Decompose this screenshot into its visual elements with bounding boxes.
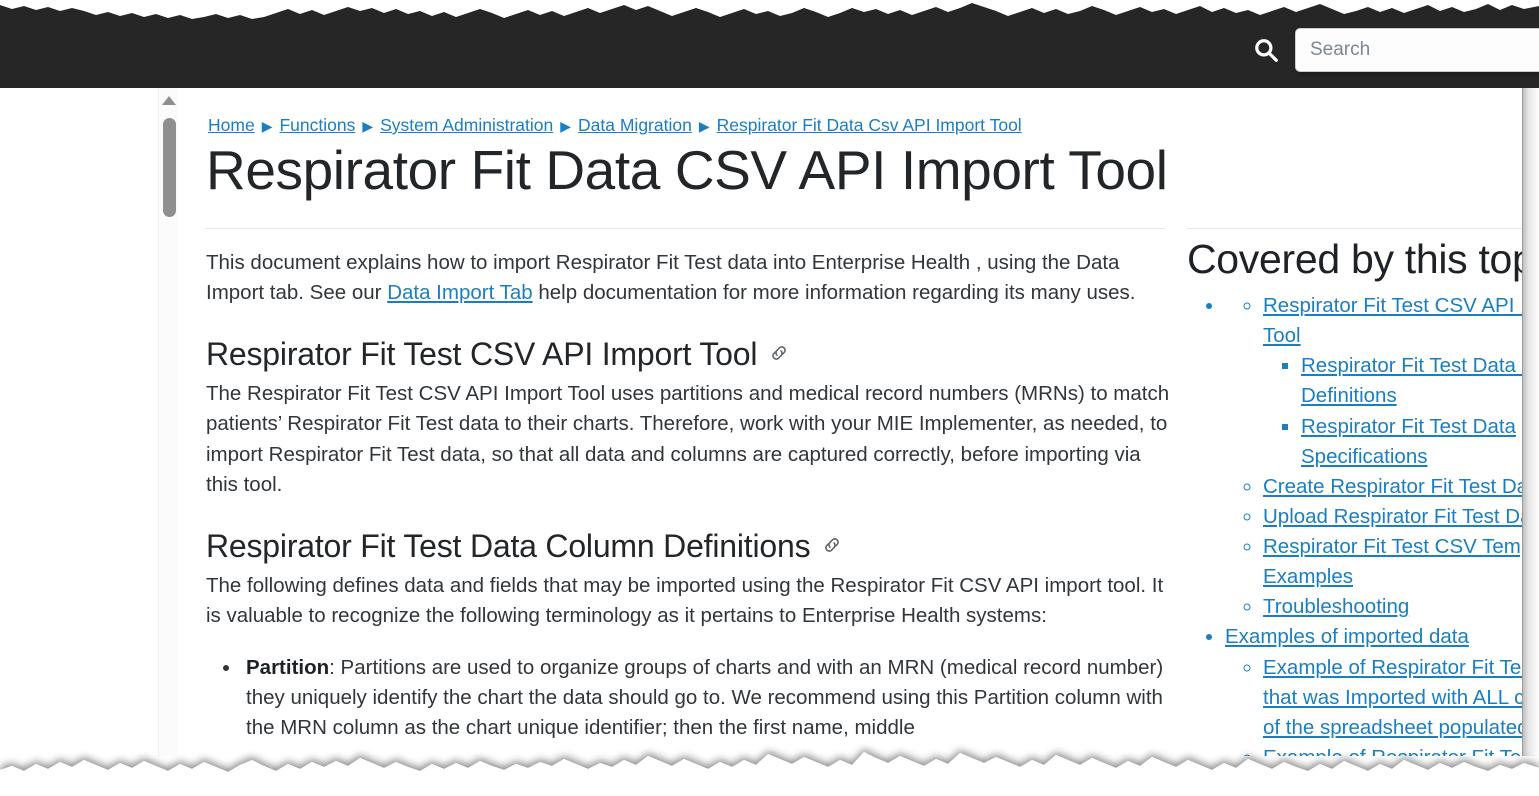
- breadcrumb-item-system-administration[interactable]: System Administration: [380, 115, 553, 135]
- toc-group-1: Respirator Fit Test CSV API Import Tool …: [1225, 291, 1522, 622]
- breadcrumb-item-home[interactable]: Home: [208, 115, 255, 135]
- toc-item-example-second: Example of Respirator Fit Test data: [1263, 743, 1522, 756]
- toc-link-example-second[interactable]: Example of Respirator Fit Test data: [1263, 746, 1522, 756]
- header-torn-edge: [0, 0, 1539, 26]
- toc-list-level2b: Example of Respirator Fit Test data that…: [1225, 653, 1522, 757]
- section-heading-2: Respirator Fit Test Data Column Definiti…: [206, 528, 1171, 565]
- search-icon[interactable]: [1249, 33, 1283, 67]
- triangle-up-icon[interactable]: [162, 96, 176, 105]
- sidebar-item-5[interactable]: agement: [0, 601, 177, 624]
- sidebar-item-3[interactable]: ence: [0, 444, 177, 467]
- toc-list-level3: Respirator Fit Test Data Column Definiti…: [1263, 351, 1522, 472]
- toc-item-example-all-columns: Example of Respirator Fit Test data that…: [1263, 653, 1522, 743]
- toc-item-import-tool: Respirator Fit Test CSV API Import Tool …: [1263, 291, 1522, 472]
- breadcrumb-item-functions[interactable]: Functions: [279, 115, 355, 135]
- toc-panel: Covered by this topic Respirator Fit Tes…: [1187, 236, 1522, 756]
- sidebar-item-4[interactable]: ation: [0, 545, 177, 568]
- breadcrumb-separator: ▶: [362, 118, 373, 135]
- sidebar-item-0[interactable]: tem: [0, 230, 177, 253]
- toc-link-troubleshooting[interactable]: Troubleshooting: [1263, 595, 1409, 618]
- link-anchor-icon[interactable]: [822, 535, 842, 559]
- site-header: [0, 0, 1539, 88]
- page-title: Respirator Fit Data CSV API Import Tool: [206, 138, 1168, 202]
- section-1-body: The Respirator Fit Test CSV API Import T…: [206, 379, 1171, 500]
- toc-item-examples-of-imported-data: Examples of imported data Example of Res…: [1225, 622, 1522, 756]
- link-anchor-icon[interactable]: [769, 343, 789, 367]
- toc-link-data-specifications[interactable]: Respirator Fit Test Data Specifications: [1301, 415, 1516, 468]
- breadcrumb-separator: ▶: [560, 118, 571, 135]
- data-import-tab-link[interactable]: Data Import Tab: [387, 281, 532, 304]
- toc-item-troubleshooting: Troubleshooting: [1263, 592, 1522, 622]
- toc-item-create-data: Create Respirator Fit Test Data: [1263, 472, 1522, 502]
- sidebar-scrollbar[interactable]: [158, 88, 178, 756]
- sidebar-item-list: tem d emenu ence ation agement ment: [0, 88, 177, 735]
- breadcrumb-separator: ▶: [262, 118, 273, 135]
- toc-link-examples-of-imported-data[interactable]: Examples of imported data: [1225, 625, 1469, 648]
- left-sidebar-nav: tem d emenu ence ation agement ment: [0, 88, 178, 756]
- toc-link-csv-template-examples[interactable]: Respirator Fit Test CSV Template Example…: [1263, 535, 1522, 588]
- toc-link-upload-data[interactable]: Upload Respirator Fit Test Data: [1263, 505, 1522, 528]
- definition-term: Partition: [246, 656, 329, 679]
- document-content: Home▶Functions▶System Administration▶Dat…: [179, 88, 1522, 756]
- toc-item-data-specifications: Respirator Fit Test Data Specifications: [1301, 412, 1522, 472]
- breadcrumb-separator: ▶: [699, 118, 710, 135]
- page-edge-line: [1522, 88, 1523, 756]
- breadcrumb: Home▶Functions▶System Administration▶Dat…: [208, 115, 1022, 136]
- toc-item-upload-data: Upload Respirator Fit Test Data: [1263, 502, 1522, 532]
- breadcrumb-item-data-migration[interactable]: Data Migration: [578, 115, 692, 135]
- toc-list-level1: Respirator Fit Test CSV API Import Tool …: [1187, 291, 1522, 756]
- intro-paragraph: This document explains how to import Res…: [206, 248, 1171, 308]
- list-item: Partition: Partitions are used to organi…: [242, 653, 1171, 743]
- toc-link-example-all-columns[interactable]: Example of Respirator Fit Test data that…: [1263, 656, 1522, 739]
- toc-item-csv-template-examples: Respirator Fit Test CSV Template Example…: [1263, 532, 1522, 592]
- toc-link-column-definitions[interactable]: Respirator Fit Test Data Column Definiti…: [1301, 354, 1522, 407]
- toc-divider: [1187, 228, 1522, 229]
- title-divider: [205, 228, 1165, 229]
- sidebar-item-6[interactable]: ment: [0, 712, 177, 735]
- intro-text-after: help documentation for more information …: [533, 281, 1136, 304]
- definition-text: : Partitions are used to organize groups…: [246, 656, 1163, 739]
- main-article-column: This document explains how to import Res…: [206, 248, 1171, 743]
- scrollbar-thumb[interactable]: [163, 118, 176, 217]
- page-edge-shadow: [1522, 88, 1539, 756]
- breadcrumb-item-current[interactable]: Respirator Fit Data Csv API Import Tool: [717, 115, 1022, 135]
- document-page: tem d emenu ence ation agement ment Home…: [0, 0, 1539, 796]
- section-heading-1: Respirator Fit Test CSV API Import Tool: [206, 336, 1171, 373]
- search-area: [1249, 28, 1539, 72]
- search-input[interactable]: [1295, 28, 1539, 72]
- definition-list: Partition: Partitions are used to organi…: [206, 653, 1171, 743]
- toc-item-column-definitions: Respirator Fit Test Data Column Definiti…: [1301, 351, 1522, 411]
- toc-link-import-tool[interactable]: Respirator Fit Test CSV API Import Tool: [1263, 294, 1522, 347]
- section-heading-1-text: Respirator Fit Test CSV API Import Tool: [206, 336, 757, 373]
- section-2-body: The following defines data and fields th…: [206, 571, 1171, 631]
- toc-title: Covered by this topic: [1187, 236, 1522, 283]
- section-heading-2-text: Respirator Fit Test Data Column Definiti…: [206, 528, 810, 565]
- toc-link-create-data[interactable]: Create Respirator Fit Test Data: [1263, 475, 1522, 498]
- sidebar-item-2[interactable]: emenu: [0, 388, 177, 411]
- sidebar-item-1[interactable]: d: [0, 309, 177, 332]
- toc-list-level2: Respirator Fit Test CSV API Import Tool …: [1225, 291, 1522, 622]
